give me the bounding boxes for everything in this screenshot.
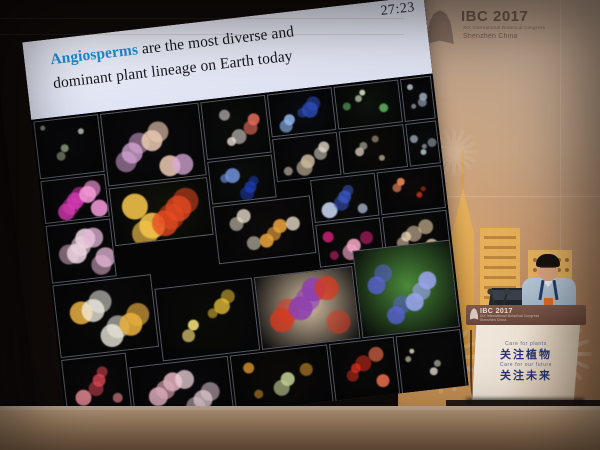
ginkgo-leaf-icon xyxy=(425,10,455,44)
speaker-badge xyxy=(544,298,553,305)
presentation-slide: 27:23 Angiosperms are the most diverse a… xyxy=(22,0,468,432)
podium-slogan-en-2: Care for our future xyxy=(472,362,580,370)
mosaic-photo-tile xyxy=(154,278,260,362)
podium-slogan-cn-1: 关注植物 xyxy=(472,349,580,363)
mosaic-photo-tile xyxy=(40,174,110,224)
stage-skirt xyxy=(0,406,600,450)
wall-logo-subtitle: XIX International Botanical Congress xyxy=(463,25,545,30)
mosaic-photo-tile xyxy=(352,240,460,339)
podium-slogan: Care for plants 关注植物 Care for our future… xyxy=(472,341,580,384)
wall-ibc-logo: IBC 2017 XIX International Botanical Con… xyxy=(425,8,595,46)
slide-title-highlight: Angiosperms xyxy=(49,41,138,68)
mosaic-photo-tile xyxy=(200,95,271,160)
podium-slogan-en-1: Care for plants xyxy=(472,341,580,349)
mosaic-photo-tile xyxy=(310,173,380,223)
podium-logo: IBC 2017 XIX International Botanical Con… xyxy=(480,308,552,322)
mosaic-photo-tile xyxy=(333,80,403,130)
mosaic-photo-tile xyxy=(212,195,317,264)
mosaic-photo-tile xyxy=(266,87,336,137)
wall-logo-location: Shenzhen China xyxy=(463,33,518,40)
podium: IBC 2017 XIX International Botanical Con… xyxy=(472,305,580,405)
mosaic-photo-tile xyxy=(405,120,441,166)
mosaic-photo-tile xyxy=(33,114,104,179)
podium-top-band: IBC 2017 XIX International Botanical Con… xyxy=(466,305,586,325)
flower-photo-mosaic xyxy=(31,73,468,431)
conference-scene: IBC 2017 XIX International Botanical Con… xyxy=(0,0,600,450)
podium-logo-location: Shenzhen China xyxy=(480,319,552,322)
mosaic-photo-tile xyxy=(272,132,342,182)
mosaic-photo-tile xyxy=(396,329,467,394)
podium-ginkgo-leaf-icon xyxy=(469,308,479,320)
mosaic-photo-tile xyxy=(338,124,408,174)
mosaic-photo-tile xyxy=(109,177,214,246)
projection-screen: 27:23 Angiosperms are the most diverse a… xyxy=(0,0,463,417)
mosaic-photo-tile xyxy=(377,165,447,215)
mosaic-photo-tile xyxy=(207,155,277,205)
mosaic-photo-tile xyxy=(52,274,158,358)
mosaic-photo-tile xyxy=(46,218,117,283)
wall-logo-title: IBC 2017 xyxy=(461,8,528,25)
mosaic-photo-tile xyxy=(254,266,360,350)
mosaic-photo-tile xyxy=(399,76,435,122)
mosaic-photo-tile xyxy=(329,337,400,402)
podium-slogan-cn-2: 关注未来 xyxy=(472,370,580,384)
mosaic-photo-tile xyxy=(100,103,206,187)
